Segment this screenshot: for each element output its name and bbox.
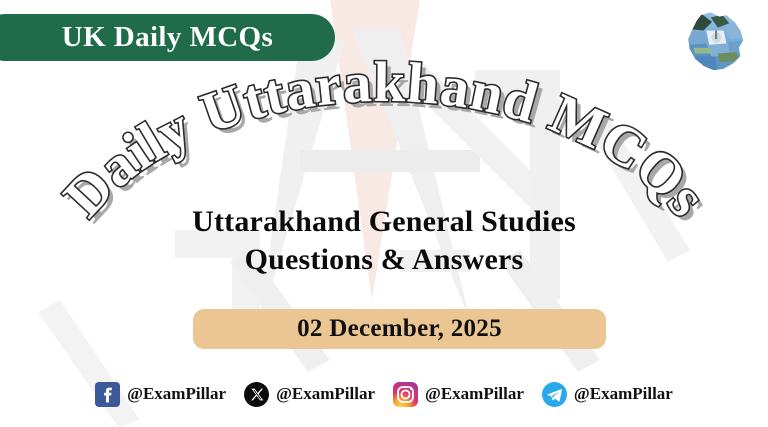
social-handle-facebook: @ExamPillar — [127, 384, 226, 404]
instagram-icon[interactable] — [393, 382, 418, 407]
uk-daily-mcqs-badge: UK Daily MCQs — [0, 14, 335, 61]
social-item-telegram[interactable]: @ExamPillar — [542, 382, 673, 407]
social-item-instagram[interactable]: @ExamPillar — [393, 382, 524, 407]
badge-label: UK Daily MCQs — [44, 21, 273, 54]
social-handle-telegram: @ExamPillar — [574, 384, 673, 404]
facebook-icon[interactable] — [95, 382, 120, 407]
heading-block: Uttarakhand General Studies Questions & … — [0, 203, 768, 279]
heading-line-1: Uttarakhand General Studies — [0, 203, 768, 241]
x-twitter-icon[interactable] — [244, 382, 269, 407]
social-bar: @ExamPillar @ExamPillar — [0, 375, 768, 413]
date-text: 02 December, 2025 — [297, 315, 502, 343]
social-item-facebook[interactable]: @ExamPillar — [95, 382, 226, 407]
social-handle-x: @ExamPillar — [276, 384, 375, 404]
heading-line-2: Questions & Answers — [0, 241, 768, 279]
uttarakhand-map-logo — [676, 6, 754, 78]
date-banner: 02 December, 2025 — [193, 309, 606, 349]
poster-canvas: UK Daily MCQs — [0, 0, 768, 427]
telegram-icon[interactable] — [542, 382, 567, 407]
social-item-x[interactable]: @ExamPillar — [244, 382, 375, 407]
social-handle-instagram: @ExamPillar — [425, 384, 524, 404]
